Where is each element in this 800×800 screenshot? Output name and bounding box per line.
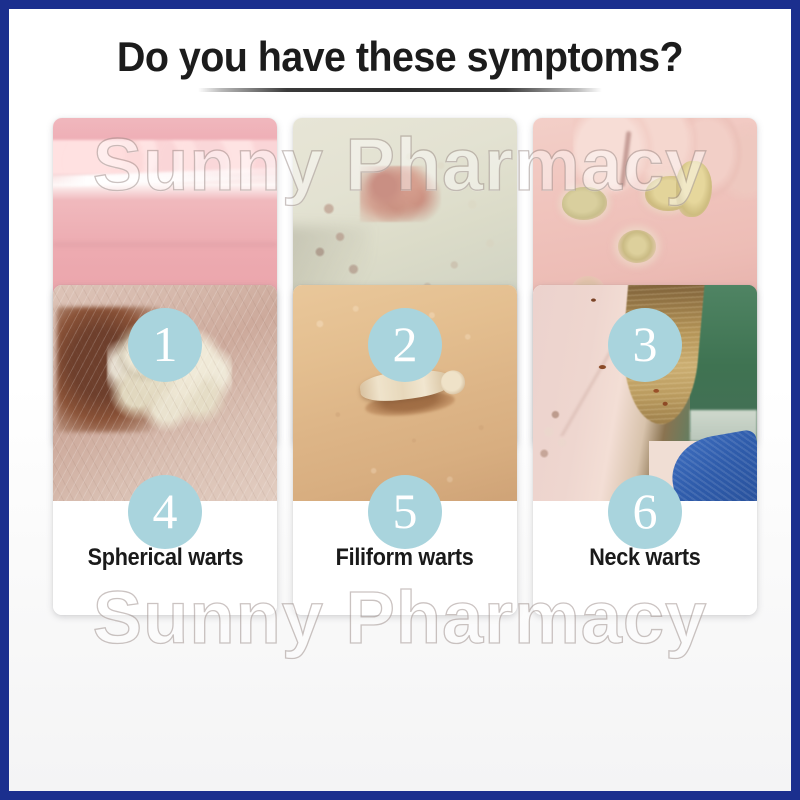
poster-frame: Do you have these symptoms? 1 Genital wa…	[0, 0, 800, 800]
step-badge-4: 4	[128, 475, 202, 549]
step-number-6: 6	[633, 486, 658, 536]
step-badge-3: 3	[608, 308, 682, 382]
step-number-3: 3	[633, 319, 658, 369]
step-number-2: 2	[393, 319, 418, 369]
step-number-4: 4	[153, 486, 178, 536]
step-number-5: 5	[393, 486, 418, 536]
poster-canvas: Do you have these symptoms? 1 Genital wa…	[9, 9, 791, 791]
symptom-grid: 1 Genital warts 2 Flat warts	[53, 118, 757, 450]
page-title: Do you have these symptoms?	[32, 35, 767, 79]
step-badge-2: 2	[368, 308, 442, 382]
step-badge-6: 6	[608, 475, 682, 549]
title-divider	[198, 88, 602, 92]
step-badge-5: 5	[368, 475, 442, 549]
poster-header: Do you have these symptoms?	[9, 35, 791, 92]
step-number-1: 1	[153, 319, 178, 369]
step-badge-1: 1	[128, 308, 202, 382]
